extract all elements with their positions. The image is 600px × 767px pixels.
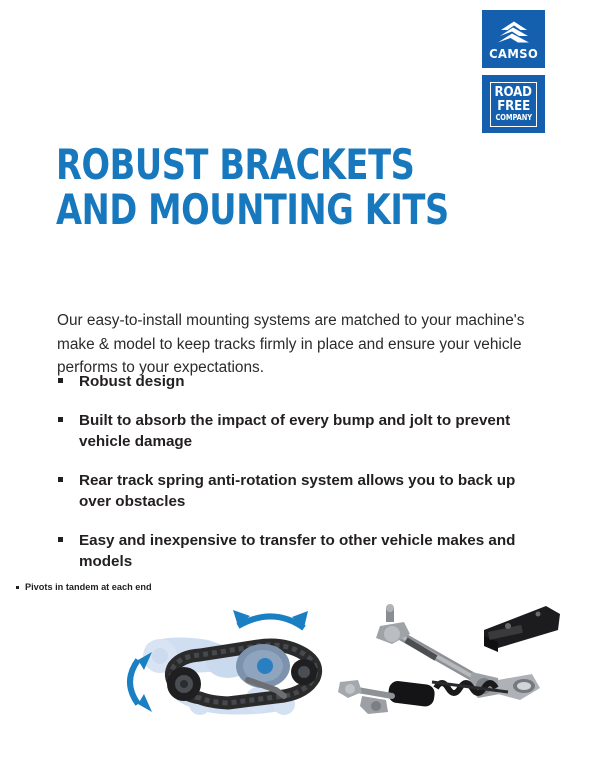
camso-wordmark: CAMSO: [489, 48, 538, 61]
page-title-line2: AND MOUNTING KITS: [56, 187, 449, 232]
road-free-company-frame: ROAD FREE COMPANY: [490, 82, 537, 127]
list-item-label: Built to absorb the impact of every bump…: [79, 412, 510, 451]
road-free-line3: COMPANY: [495, 114, 532, 122]
footnote: Pivots in tandem at each end: [16, 582, 152, 592]
rubber-track-system-diagram: [108, 600, 336, 730]
road-free-line2: FREE: [497, 100, 530, 114]
square-bullet-icon: [58, 417, 63, 422]
footnote-label: Pivots in tandem at each end: [25, 582, 152, 592]
square-bullet-icon: [16, 586, 19, 589]
road-free-company-badge: ROAD FREE COMPANY: [482, 75, 545, 133]
mounting-bracket: [484, 606, 560, 652]
camso-chevron-icon: [497, 20, 531, 45]
list-item: Rear track spring anti-rotation system a…: [57, 470, 527, 513]
list-item-label: Easy and inexpensive to transfer to othe…: [79, 532, 515, 571]
camso-logo: CAMSO: [482, 10, 545, 68]
square-bullet-icon: [58, 537, 63, 542]
drive-sprocket: [236, 644, 290, 688]
intro-paragraph: Our easy-to-install mounting systems are…: [57, 309, 527, 379]
mounting-hardware-photo: [332, 596, 564, 718]
illustration-area: [0, 596, 600, 767]
list-item-label: Robust design: [79, 373, 184, 390]
square-bullet-icon: [58, 378, 63, 383]
list-item: Easy and inexpensive to transfer to othe…: [57, 530, 527, 573]
list-item-label: Rear track spring anti-rotation system a…: [79, 472, 515, 511]
page-title-line1: ROBUST BRACKETS: [56, 142, 449, 187]
feature-list: Robust design Built to absorb the impact…: [57, 371, 527, 590]
list-item: Built to absorb the impact of every bump…: [57, 410, 527, 453]
square-bullet-icon: [58, 477, 63, 482]
pivot-arrow-top: [233, 610, 308, 628]
list-item: Robust design: [57, 371, 527, 393]
page-title: ROBUST BRACKETS AND MOUNTING KITS: [56, 142, 449, 233]
logo-block: CAMSO ROAD FREE COMPANY: [482, 10, 545, 133]
